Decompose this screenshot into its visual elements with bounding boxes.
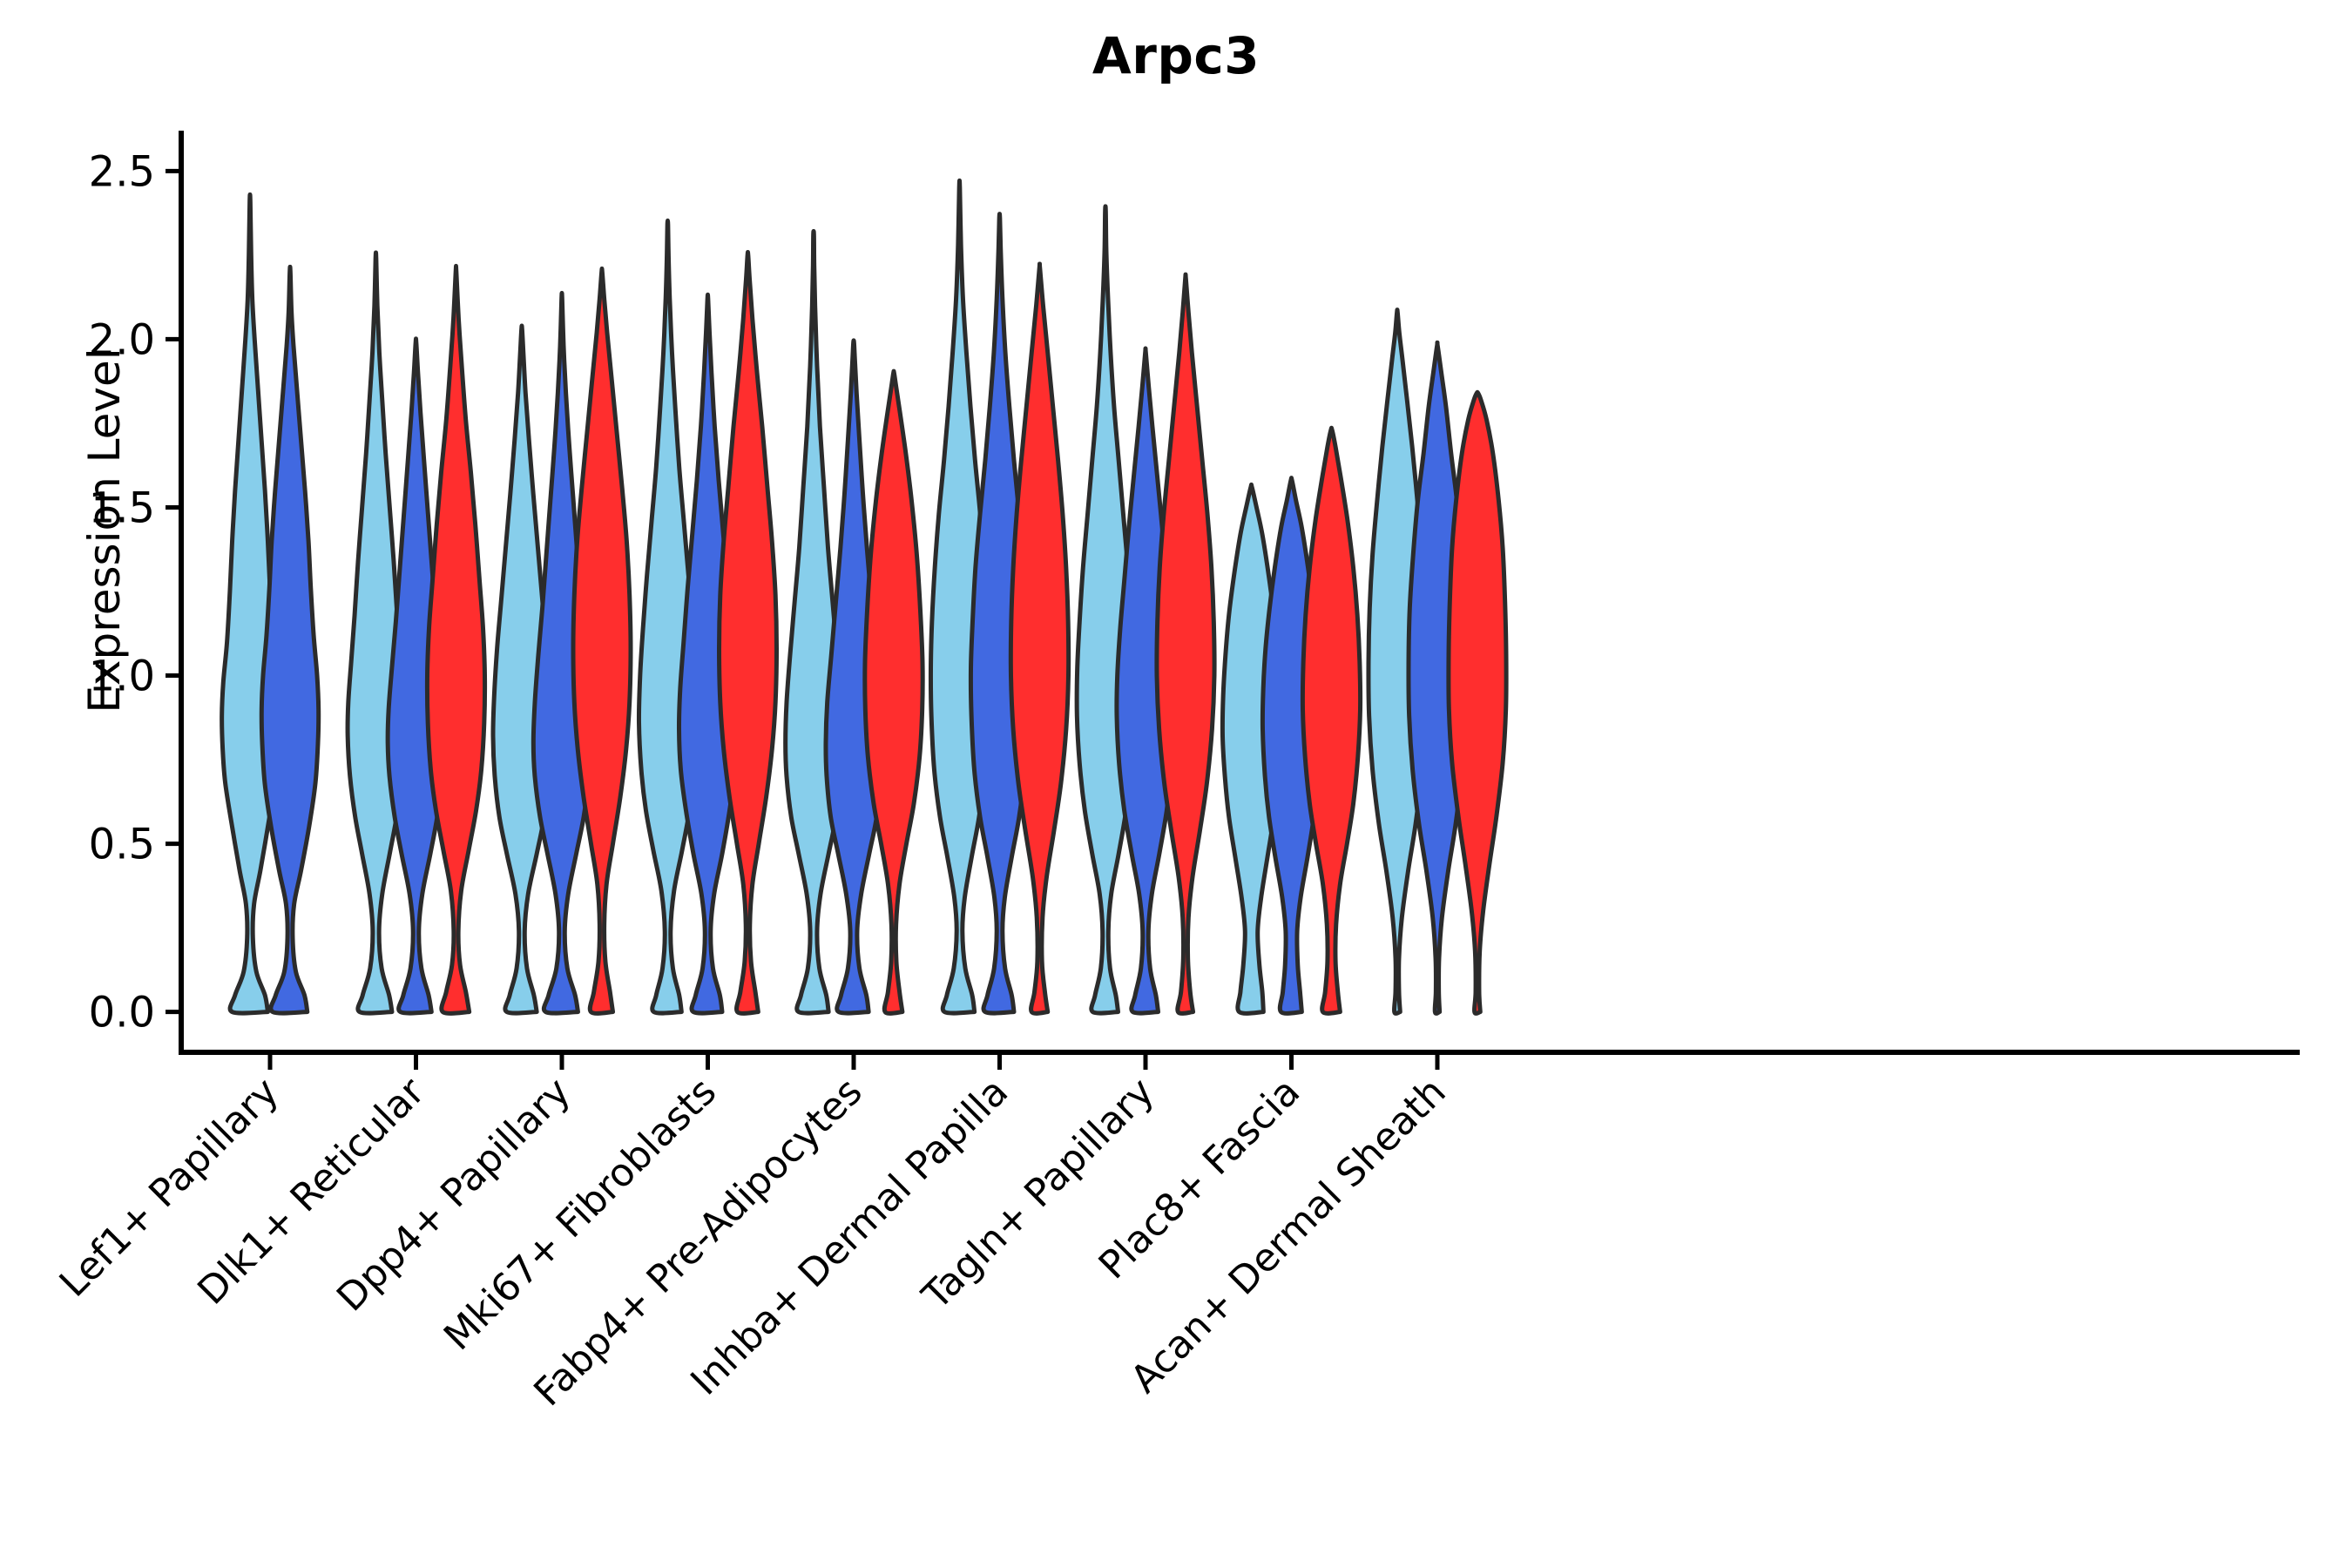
y-tick-label: 2.5 xyxy=(89,147,155,196)
violin-6-red xyxy=(1010,264,1068,1013)
x-axis-ticks: Lef1+ PapillaryDlk1+ ReticularDpp4+ Papi… xyxy=(51,1052,1455,1415)
x-tick-label-4: Mki67+ Fibroblasts xyxy=(436,1070,725,1359)
violin-9-red xyxy=(1449,392,1506,1013)
y-tick-label: 1.5 xyxy=(89,483,155,532)
y-tick-label: 1.0 xyxy=(89,652,155,701)
y-tick-label: 0.0 xyxy=(89,989,155,1037)
violin-3-red xyxy=(573,268,631,1013)
violin-5-red xyxy=(865,371,923,1013)
y-axis-ticks: 0.00.51.01.52.02.5 xyxy=(89,147,181,1037)
violin-8-red xyxy=(1302,428,1360,1013)
violin-plot-figure: Arpc3 Expression Level 0.00.51.01.52.02.… xyxy=(0,0,2352,1568)
violin-7-red xyxy=(1157,274,1214,1013)
violin-2-red xyxy=(427,266,484,1013)
violin-1-royalblue xyxy=(261,267,318,1013)
violin-4-red xyxy=(720,252,777,1013)
y-tick-label: 2.0 xyxy=(89,315,155,364)
violin-chart-canvas: 0.00.51.01.52.02.5 Lef1+ PapillaryDlk1+ … xyxy=(0,0,2352,1568)
y-tick-label: 0.5 xyxy=(89,821,155,869)
violins-layer xyxy=(222,180,1507,1013)
